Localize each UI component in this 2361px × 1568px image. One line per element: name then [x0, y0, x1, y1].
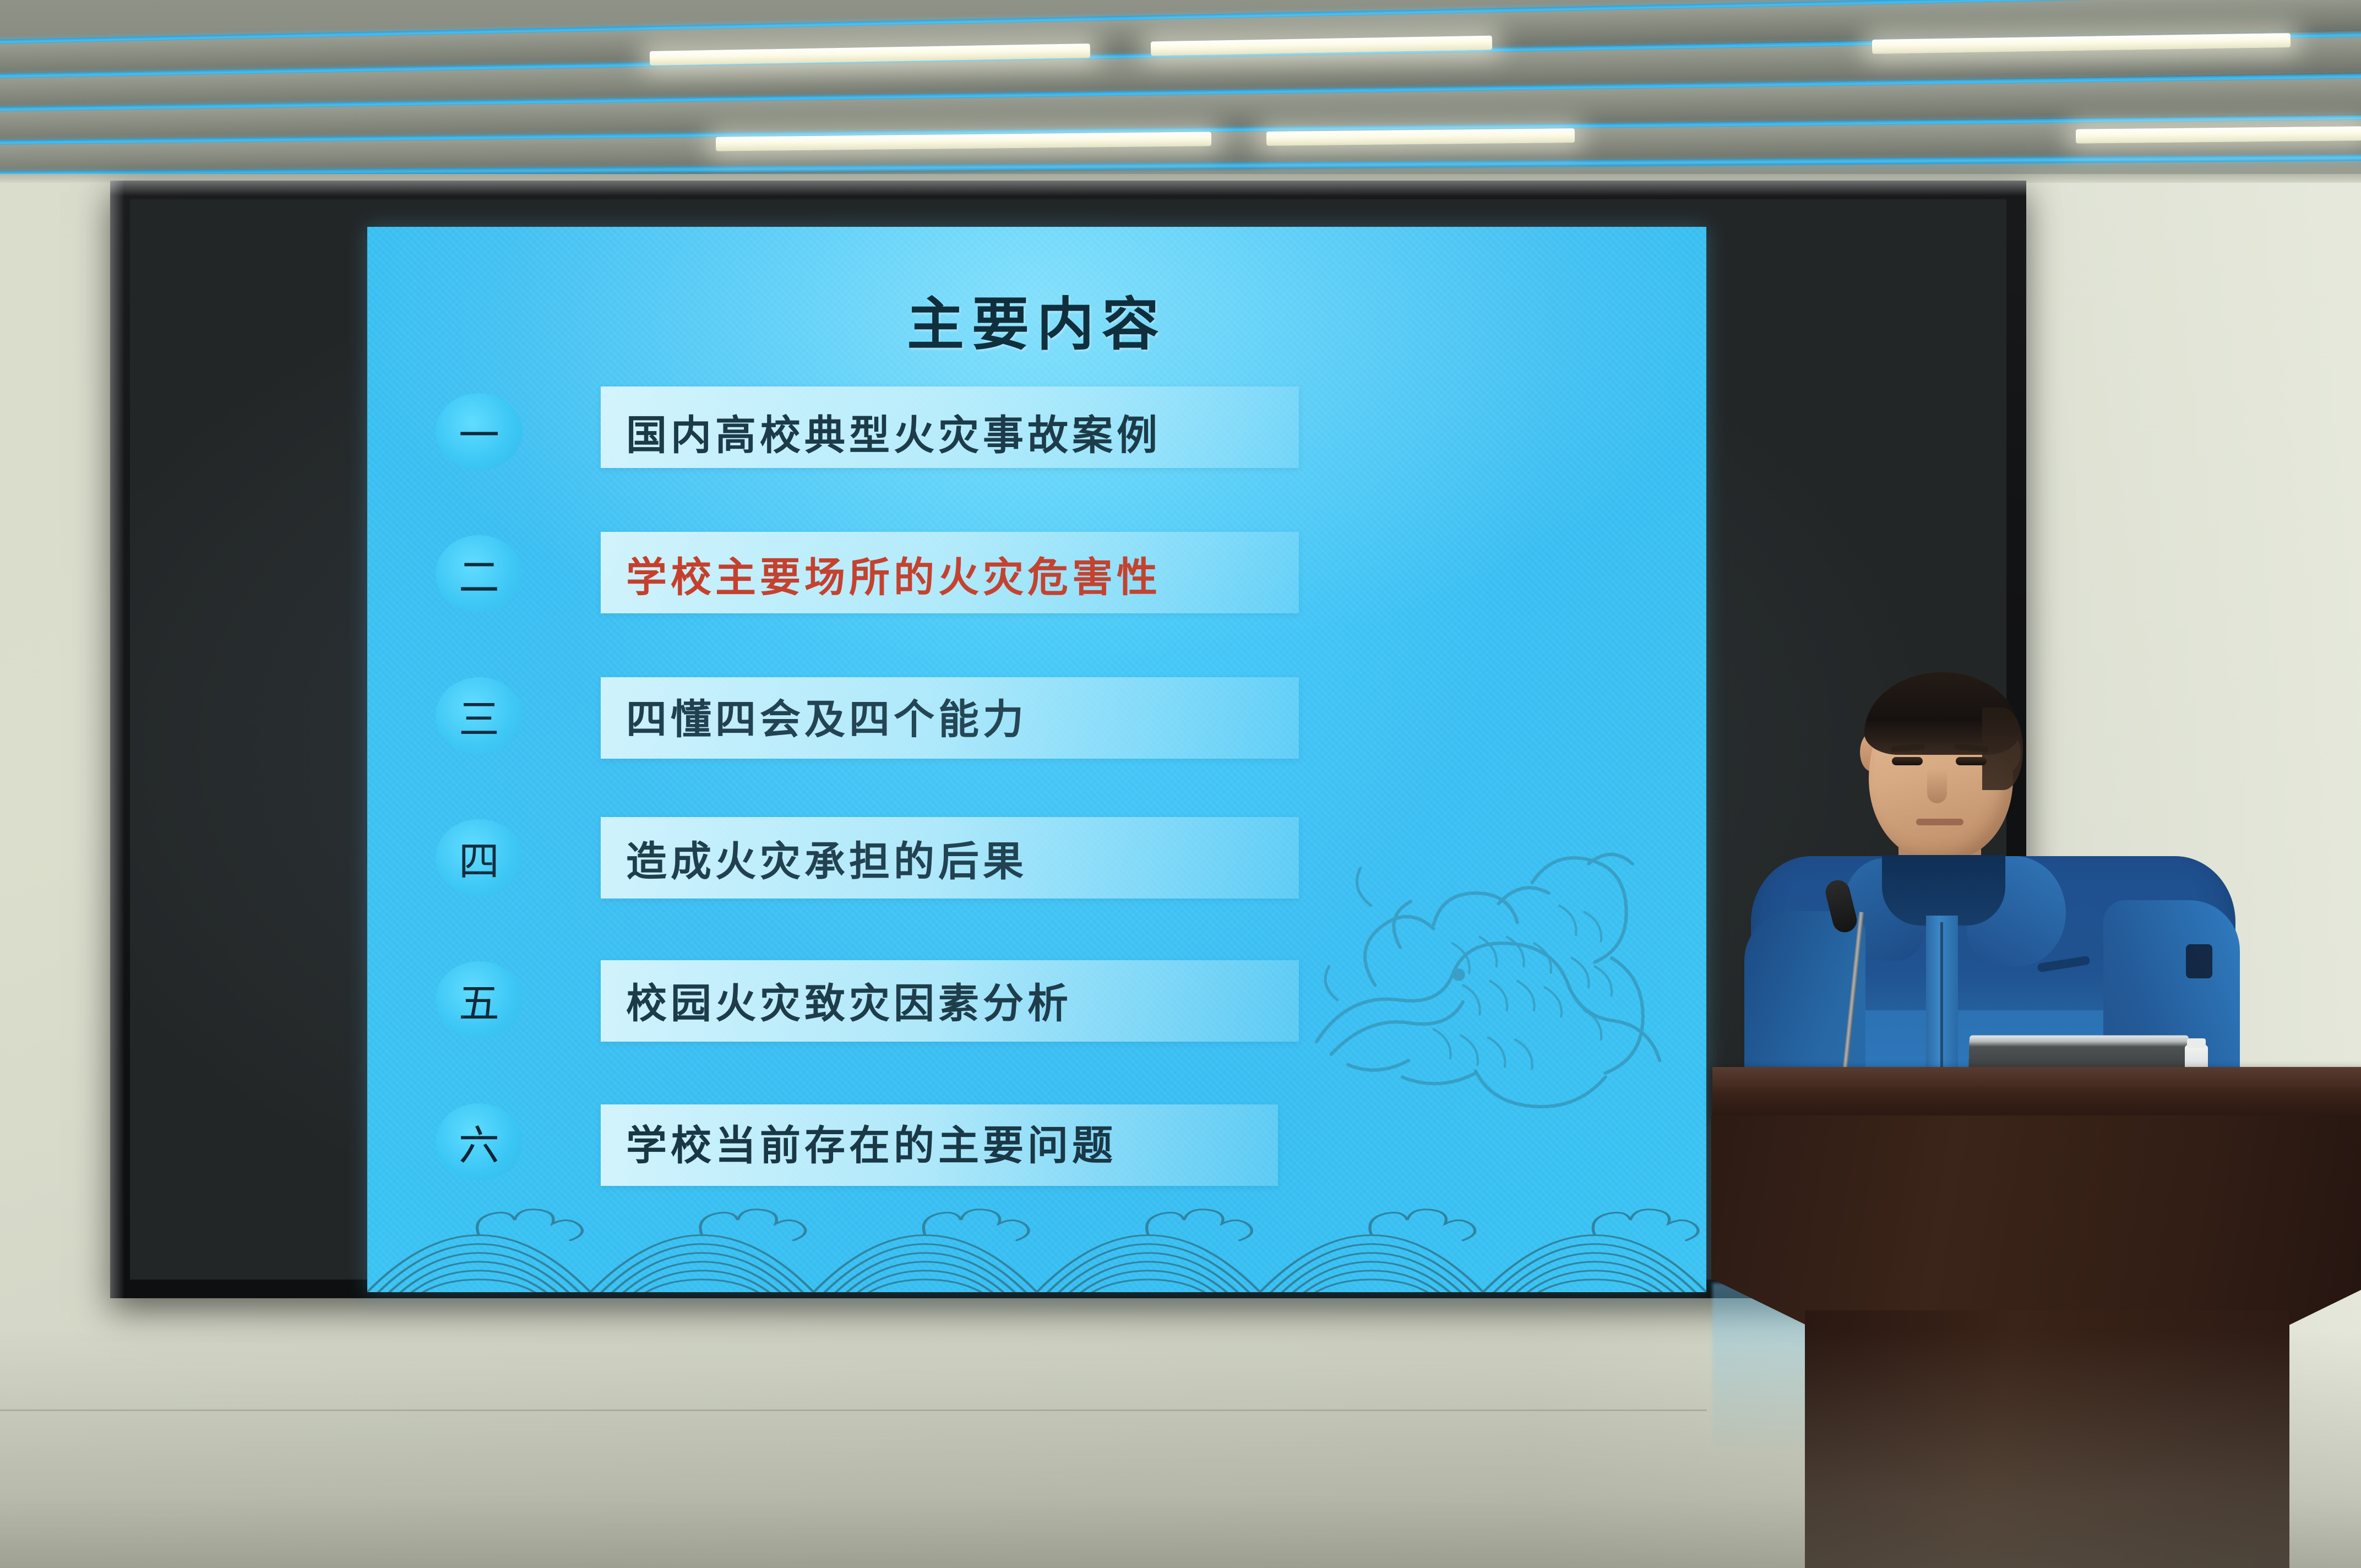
agenda-item-label: 校园火灾致灾因素分析	[626, 939, 1072, 1060]
agenda-item-label: 四懂四会及四个能力	[626, 655, 1027, 776]
podium-body	[1711, 1115, 2361, 1325]
ceiling-light-tube	[2076, 126, 2361, 143]
jacket-sleeve-badge	[2186, 944, 2212, 978]
agenda-item-label: 造成火灾承担的后果	[626, 797, 1027, 918]
water-bottle-cap	[2187, 1038, 2206, 1048]
slide-agenda-list: 一 国内高校典型火灾事故案例 二 学校主要场所的火灾危害性 三 四懂四会及四个能…	[367, 371, 1706, 1223]
agenda-item-number: 四	[436, 819, 523, 896]
agenda-item: 一 国内高校典型火灾事故案例	[367, 371, 1706, 513]
ceiling-baffle-array	[0, 0, 2361, 182]
frame-gloss-top	[110, 181, 2026, 196]
agenda-item: 二 学校主要场所的火灾危害性	[367, 513, 1706, 655]
projected-slide: 主要内容 一 国内高校典型火灾事故案例 二 学校主要场所的火灾危害性 三 四懂四…	[367, 227, 1706, 1292]
presenter-collar	[1882, 855, 2005, 925]
agenda-item-label: 学校主要场所的火灾危害性	[626, 513, 1161, 634]
presenter-nose	[1927, 769, 1947, 803]
agenda-item: 四 造成火灾承担的后果	[367, 797, 1706, 939]
agenda-item-number: 二	[436, 535, 523, 612]
podium-desktop	[1712, 1067, 2361, 1118]
agenda-item-number: 六	[436, 1103, 523, 1180]
agenda-item-label: 国内高校典型火灾事故案例	[626, 371, 1161, 492]
agenda-item: 五 校园火灾致灾因素分析	[367, 939, 1706, 1081]
agenda-item-number: 五	[436, 961, 523, 1038]
agenda-item: 三 四懂四会及四个能力	[367, 655, 1706, 797]
presenter-mouth	[1916, 819, 1963, 825]
agenda-item-number: 三	[436, 677, 523, 754]
slide-title: 主要内容	[367, 277, 1706, 361]
photo-scene: 主要内容 一 国内高校典型火灾事故案例 二 学校主要场所的火灾危害性 三 四懂四…	[0, 0, 2361, 1568]
floor-shadow	[0, 1331, 2361, 1568]
agenda-item-label: 学校当前存在的主要问题	[626, 1081, 1117, 1202]
agenda-item: 六 学校当前存在的主要问题	[367, 1081, 1706, 1223]
presenter-eye	[1892, 757, 1923, 765]
frame-gloss-left	[110, 181, 124, 1298]
presenter-eye	[1956, 757, 1987, 765]
agenda-item-number: 一	[436, 393, 523, 470]
